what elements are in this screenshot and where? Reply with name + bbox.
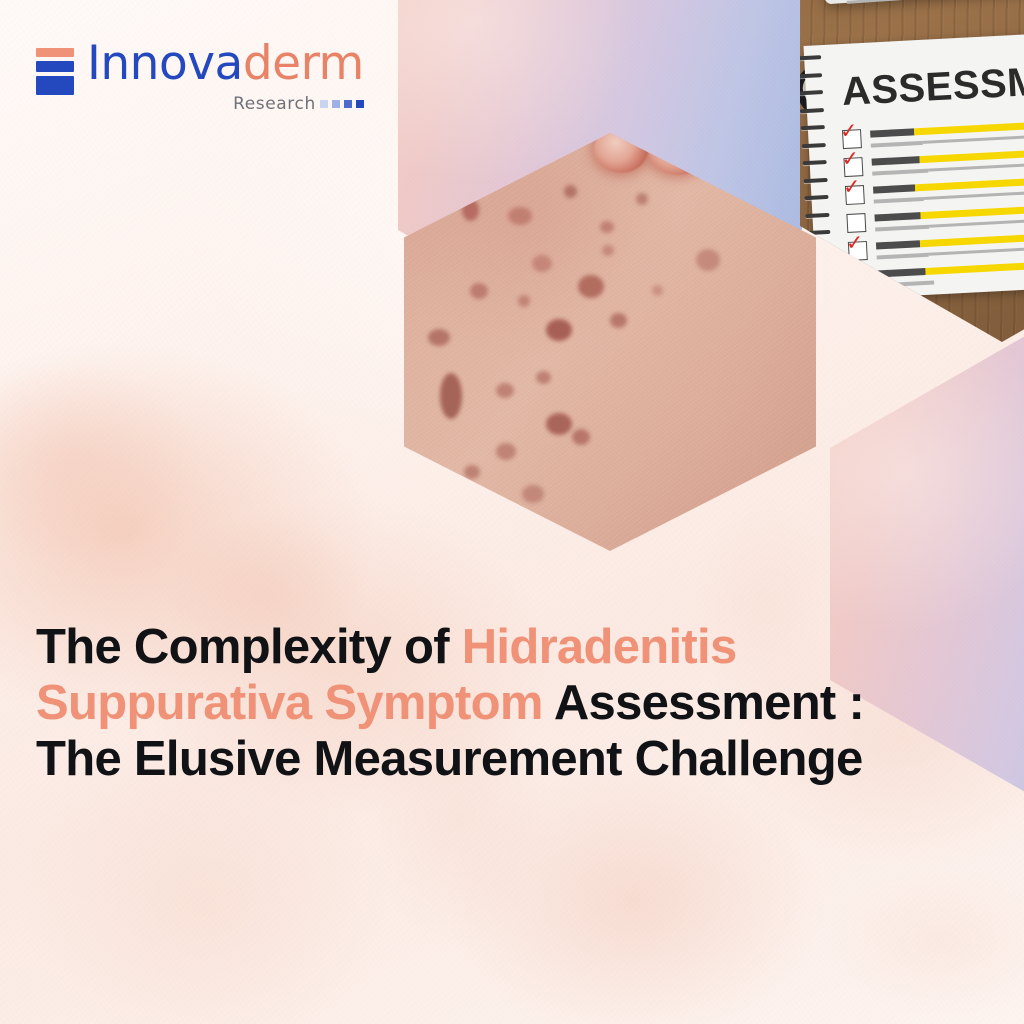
headline-l2-black: Assessment :: [543, 676, 864, 730]
logo-wordmark: Innovaderm: [87, 40, 364, 87]
logo-swatch-1: [320, 100, 328, 108]
wordmark-innova: Innova: [87, 36, 243, 91]
wordmark-derm: derm: [243, 36, 364, 91]
page-title: The Complexity of Hidradenitis Suppurati…: [36, 620, 986, 788]
headline-line-2: Suppurativa Symptom Assessment :: [36, 676, 986, 732]
headline-l3-black: The Elusive Measurement Challenge: [36, 732, 863, 786]
promotional-graphic: ✓ ✓ ✓ ✓: [0, 0, 1024, 1024]
headline-line-1: The Complexity of Hidradenitis: [36, 620, 986, 676]
logo-bar-blue-thin: [36, 61, 74, 72]
headline-line-3: The Elusive Measurement Challenge: [36, 732, 986, 788]
innovaderm-logo[interactable]: Innovaderm Research: [36, 40, 364, 114]
assessment-heading: ASSESSMENT: [841, 55, 1024, 115]
logo-subtitle: Research: [233, 94, 316, 114]
headline-l1-accent: Hidradenitis: [462, 620, 737, 674]
logo-bar-blue-thick: [36, 76, 74, 95]
logo-subtitle-row: Research: [87, 94, 364, 114]
logo-text-block: Innovaderm Research: [87, 40, 364, 114]
logo-swatch-2: [332, 100, 340, 108]
headline-l1-black: The Complexity of: [36, 620, 462, 674]
logo-swatch-4: [356, 100, 364, 108]
logo-bar-coral: [36, 48, 74, 57]
logo-swatch-3: [344, 100, 352, 108]
innovaderm-logo-mark: [36, 48, 74, 95]
headline-l2-accent: Suppurativa Symptom: [36, 676, 543, 730]
